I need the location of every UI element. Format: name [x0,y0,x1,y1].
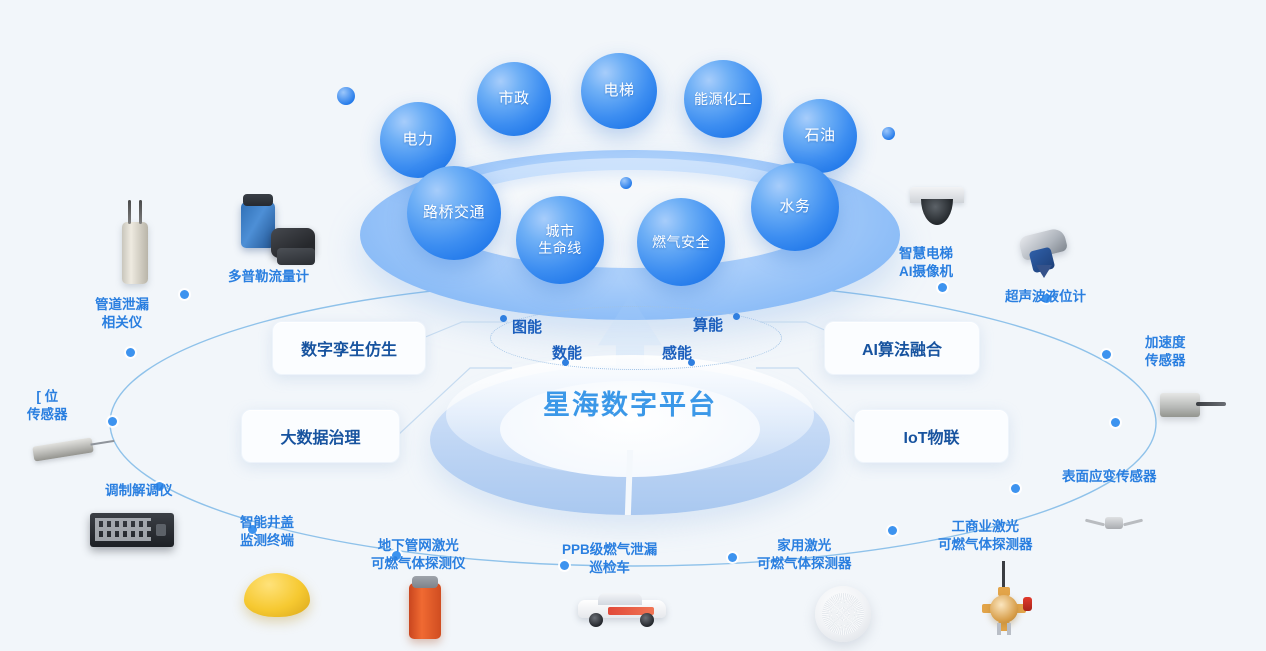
device-label-line1: 智慧电梯 [899,245,953,263]
device-label-smart-elevator-ai-camera: 智慧电梯 AI摄像机 [899,245,953,281]
capability-dot [500,315,507,322]
device-label-line1: 家用激光 [757,537,852,555]
device-label-line1: 超声波液位计 [1005,288,1086,306]
car-wheel [640,613,654,627]
sphere-label: 路桥交通 [423,204,485,222]
device-label-line2: 相关仪 [95,314,149,332]
device-label-underground-pipe-laser: 地下管网激光 可燃气体探测仪 [371,537,466,573]
laser-can-icon [409,583,441,639]
sphere-label: 城市 生命线 [538,223,582,256]
orbit-node [938,283,947,292]
dome-camera-icon [910,187,964,227]
device-label-line2: 传感器 [27,406,68,424]
device-label-ppb-gas-leak-vehicle: PPB级燃气泄漏 巡检车 [562,541,657,577]
modem-led-icon [156,524,166,536]
device-label-line1: 智能井盖 [240,514,294,532]
industry-sphere-shiyou[interactable]: 石油 [783,99,857,173]
sphere-label: 电力 [402,131,433,149]
camera-dome-lens [921,199,953,225]
device-label-line1: [ 位 [27,388,68,406]
modem-icon [90,513,174,547]
industry-sphere-ranqi[interactable]: 燃气安全 [637,198,725,286]
device-label-industrial-laser-detector: 工商业激光 可燃气体探测器 [938,518,1033,554]
feature-card-label: 大数据治理 [280,424,360,448]
device-label-line1: 多普勒流量计 [228,268,309,286]
sphere-label: 石油 [804,127,835,145]
acceleration-icon [1160,393,1200,417]
feature-card-label: 数字孪生仿生 [301,336,397,360]
device-label-line2: 可燃气体探测器 [938,536,1033,554]
device-label-line2: AI摄像机 [899,263,953,281]
device-label-doppler-flow-meter: 多普勒流量计 [228,268,309,286]
industrial-detector-icon [982,587,1026,631]
device-label-line1: PPB级燃气泄漏 [562,541,657,559]
strain-core [1105,517,1123,529]
feature-card-big-data[interactable]: 大数据治理 [241,409,400,463]
orbit-node [180,290,189,299]
floating-dot [620,177,632,189]
device-label-line2: 可燃气体探测器 [757,555,852,573]
home-detector-icon [815,586,871,642]
device-label-line2: 可燃气体探测仪 [371,555,466,573]
device-label-smart-manhole-terminal: 智能井盖 监测终端 [240,514,294,550]
industry-sphere-shuiwu[interactable]: 水务 [751,163,839,251]
feature-card-iot[interactable]: IoT物联 [854,409,1009,463]
detector-hub [990,595,1018,623]
detector-alarm-light [1023,597,1032,611]
feature-card-label: IoT物联 [904,424,960,448]
industry-sphere-chengshi[interactable]: 城市 生命线 [516,196,604,284]
feature-card-label: AI算法融合 [862,336,942,360]
industry-sphere-shizheng[interactable]: 市政 [477,62,551,136]
floating-dot [337,87,355,105]
flowmeter-base-icon [277,248,315,265]
sphere-label: 能源化工 [694,91,752,108]
sphere-label-line1: 城市 [538,223,582,240]
car-cabin [598,593,642,605]
detector-leg [1007,623,1011,635]
capability-ellipse: 图能 数能 感能 算能 [490,306,780,368]
capability-label-shuneng[interactable]: 数能 [552,342,582,363]
orbit-node [888,526,897,535]
sphere-label: 电梯 [603,82,634,100]
sphere-label-line2: 生命线 [538,240,582,257]
industry-sphere-dianti[interactable]: 电梯 [581,53,657,129]
strain-sensor-icon [1089,513,1139,533]
device-label-line1: 管道泄漏 [95,296,149,314]
device-label-line1: 表面应变传感器 [1062,468,1157,486]
inspection-car-icon [578,592,666,626]
modem-port-grid [95,518,151,541]
detector-pole [1002,561,1005,589]
industry-sphere-nengyuan[interactable]: 能源化工 [684,60,762,138]
capability-label-ganneng[interactable]: 感能 [662,342,692,363]
device-label-line1: 地下管网激光 [371,537,466,555]
correlator-icon [122,222,148,284]
central-platform: 星海数字平台 [430,355,830,525]
industry-sphere-luqiao[interactable]: 路桥交通 [407,166,501,260]
device-label-line2: 巡检车 [562,559,657,577]
device-label-pipeline-leak-correlator: 管道泄漏 相关仪 [95,296,149,332]
orbit-node [728,553,737,562]
capability-dot [733,313,740,320]
device-label-line1: 加速度 [1145,334,1186,352]
platform-title: 星海数字平台 [430,383,830,422]
ultrasonic-horn [1036,265,1052,278]
device-label-surface-strain-sensor: 表面应变传感器 [1062,468,1157,486]
sphere-label: 燃气安全 [652,234,710,251]
device-label-displacement-sensor: [ 位 传感器 [27,388,68,424]
device-label-modem: 调制解调仪 [105,482,173,500]
ultrasonic-icon [1020,232,1066,282]
detector-leg [997,623,1001,635]
sphere-label: 水务 [779,198,810,216]
floating-dot [882,127,895,140]
device-label-acceleration-sensor: 加速度 传感器 [1145,334,1186,370]
capability-label-tuneng[interactable]: 图能 [512,316,542,337]
device-label-line1: 调制解调仪 [105,482,173,500]
device-label-line2: 传感器 [1145,352,1186,370]
feature-card-digital-twin[interactable]: 数字孪生仿生 [272,321,426,375]
capability-label-suanneng[interactable]: 算能 [693,314,723,335]
feature-card-ai-fusion[interactable]: AI算法融合 [824,321,980,375]
car-wheel [589,613,603,627]
device-label-home-laser-detector: 家用激光 可燃气体探测器 [757,537,852,573]
flowmeter-icon [241,202,275,248]
sphere-label: 市政 [498,90,529,108]
manhole-icon [244,573,310,617]
device-label-ultrasonic-level-meter: 超声波液位计 [1005,288,1086,306]
device-label-line2: 监测终端 [240,532,294,550]
device-label-line1: 工商业激光 [938,518,1033,536]
diagram-canvas: 电力 市政 电梯 能源化工 石油 路桥交通 城市 生命线 燃气安全 水务 [0,0,1266,651]
